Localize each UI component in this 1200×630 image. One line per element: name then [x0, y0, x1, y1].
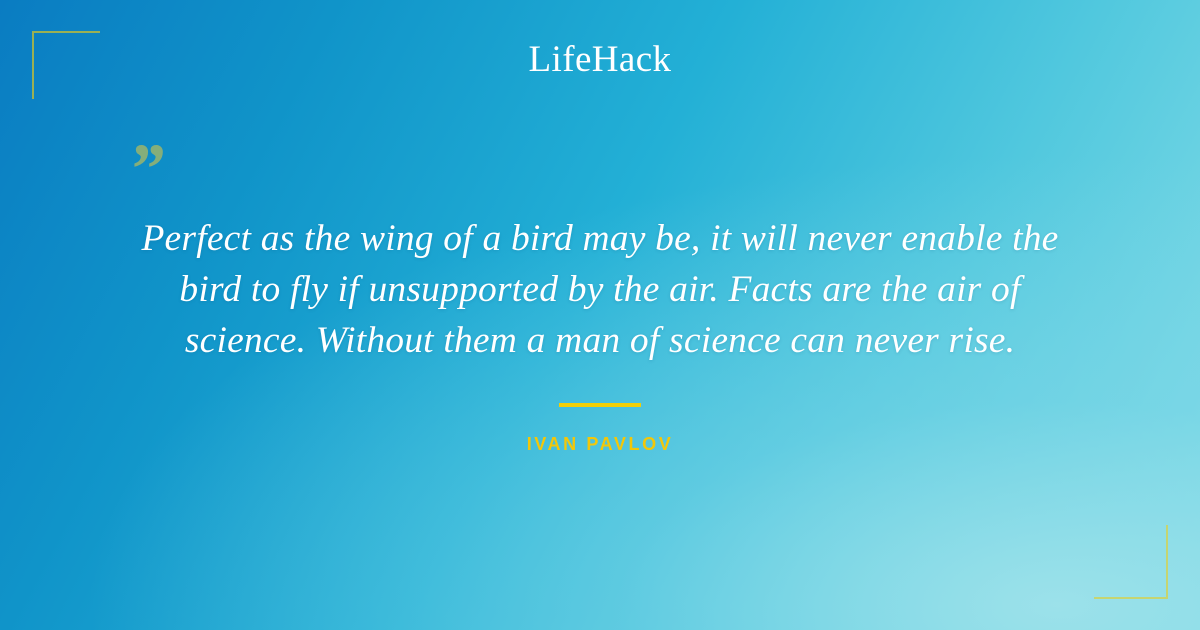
- attribution: IVAN PAVLOV: [0, 403, 1200, 455]
- quote-card: LifeHack ” Perfect as the wing of a bird…: [0, 0, 1200, 630]
- quote-line: Perfect as the wing of a bird may be, it…: [90, 213, 1110, 264]
- quote-line: science. Without them a man of science c…: [90, 315, 1110, 366]
- brand-logo: LifeHack: [0, 40, 1200, 81]
- attribution-divider: [559, 403, 641, 407]
- quote-line: bird to fly if unsupported by the air. F…: [90, 264, 1110, 315]
- quote-text: Perfect as the wing of a bird may be, it…: [90, 213, 1110, 366]
- attribution-author: IVAN PAVLOV: [0, 434, 1200, 455]
- quote-mark-icon: ”: [128, 133, 164, 205]
- corner-bracket-bottom-right-icon: [1094, 525, 1168, 599]
